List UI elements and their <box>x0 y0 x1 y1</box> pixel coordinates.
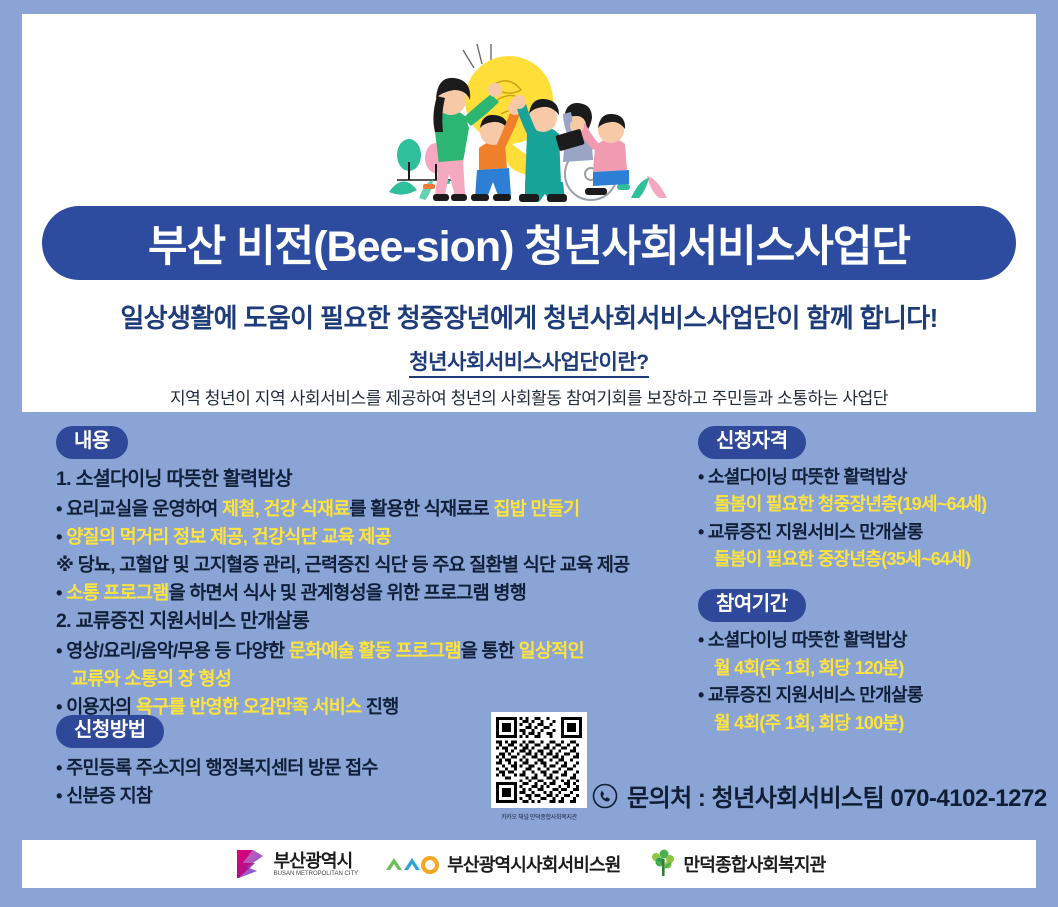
content-item1-title: 1. 소셜다이닝 따뜻한 활력밥상 <box>56 465 696 495</box>
content-area: 내용 1. 소셜다이닝 따뜻한 활력밥상 • 요리교실을 운영하여 제철, 건강… <box>22 412 1036 840</box>
period-badge: 참여기간 <box>698 589 806 622</box>
logo-busan-social-service-name: 부산광역시사회서비스원 <box>447 851 620 877</box>
plain-text: 진행 <box>361 696 398 717</box>
period-entry-title-0: • 소셜다이닝 따뜻한 활력밥상 <box>698 627 1028 654</box>
bullet-marker: • <box>56 640 66 661</box>
plain-text: 요리교실을 운영하여 <box>66 498 222 519</box>
content-left-column: 내용 1. 소셜다이닝 따뜻한 활력밥상 • 요리교실을 운영하여 제철, 건강… <box>56 426 696 721</box>
period-entry-detail-0: 월 4회(주 1회, 회당 120분) <box>698 655 1028 682</box>
eligibility-entry-title-0: • 소셜다이닝 따뜻한 활력밥상 <box>698 464 1028 491</box>
mandeok-welfare-center-logo <box>647 849 677 879</box>
eligibility-entry-detail-1: 돌봄이 필요한 중장년층(35세~64세) <box>698 546 1028 573</box>
content-item2-bullet-1: 교류와 소통의 장 형성 <box>56 665 696 693</box>
logo-busan-city: 부산광역시 BUSAN METROPOLITAN CITY <box>233 847 359 881</box>
content-item1-bullet-2: ※ 당뇨, 고혈압 및 고지혈증 관리, 근력증진 식단 등 주요 질환별 식단… <box>56 551 696 579</box>
period-entries: • 소셜다이닝 따뜻한 활력밥상월 4회(주 1회, 회당 120분)• 교류증… <box>698 627 1028 736</box>
highlighted-text: 제철, 건강 식재료 <box>222 498 350 519</box>
eligibility-entries: • 소셜다이닝 따뜻한 활력밥상돌봄이 필요한 청중장년층(19세~64세)• … <box>698 464 1028 573</box>
apply-method-block: 신청방법 • 주민등록 주소지의 행정복지센터 방문 접수• 신분증 지참 <box>56 715 476 810</box>
qr-code-icon[interactable] <box>491 712 587 808</box>
header-panel: 부산 비전(Bee-sion) 청년사회서비스사업단 일상생활에 도움이 필요한… <box>22 14 1036 412</box>
highlighted-text: 교류와 소통의 장 형성 <box>71 668 231 689</box>
poster-root: 부산 비전(Bee-sion) 청년사회서비스사업단 일상생활에 도움이 필요한… <box>0 0 1058 907</box>
period-entry-detail-1: 월 4회(주 1회, 회당 100분) <box>698 710 1028 737</box>
contact-text: 문의처 : 청년사회서비스팀 070-4102-1272 <box>627 778 1047 813</box>
bullet-marker: ※ <box>56 554 78 575</box>
plain-text: 을 통한 <box>461 640 519 661</box>
qr-caption: 카카오 채널 만덕종합사회복지관 <box>484 812 594 821</box>
contact-line: 문의처 : 청년사회서비스팀 070-4102-1272 <box>592 778 1047 813</box>
content-item1-bullet-1: • 양질의 먹거리 정보 제공, 건강식단 교육 제공 <box>56 523 696 551</box>
highlighted-text: 집밥 만들기 <box>493 498 579 519</box>
content-item2-bullet-0: • 영상/요리/음악/무용 등 다양한 문화예술 활동 프로그램을 통한 일상적… <box>56 637 696 665</box>
what-is-heading: 청년사회서비스사업단이란? <box>22 346 1036 376</box>
highlighted-text: 소통 프로그램 <box>66 582 168 603</box>
highlighted-text: 문화예술 활동 프로그램 <box>289 640 461 661</box>
eligibility-entry-detail-0: 돌봄이 필요한 청중장년층(19세~64세) <box>698 491 1028 518</box>
busan-social-service-agency-logo <box>384 853 440 875</box>
content-right-column: 신청자격 • 소셜다이닝 따뜻한 활력밥상돌봄이 필요한 청중장년층(19세~6… <box>698 426 1028 737</box>
eligibility-badge: 신청자격 <box>698 426 806 459</box>
subtitle-text: 일상생활에 도움이 필요한 청중장년에게 청년사회서비스사업단이 함께 합니다! <box>22 298 1036 335</box>
busan-city-logo <box>233 847 267 881</box>
plain-text: 이용자의 <box>66 696 136 717</box>
bullet-marker: • <box>56 696 66 717</box>
plain-text: 영상/요리/음악/무용 등 다양한 <box>66 640 288 661</box>
highlighted-text: 욕구를 반영한 오감만족 서비스 <box>136 696 361 717</box>
footer-logos: 부산광역시 BUSAN METROPOLITAN CITY 부산광역시사회서비스… <box>22 840 1036 888</box>
logo-busan-city-name: 부산광역시 <box>274 852 359 870</box>
program-description: 지역 청년이 지역 사회서비스를 제공하여 청년의 사회활동 참여기회를 보장하… <box>22 384 1036 409</box>
plain-text: 당뇨, 고혈압 및 고지혈증 관리, 근력증진 식단 등 주요 질환별 식단 교… <box>78 554 630 575</box>
content-item2-title: 2. 교류증진 지원서비스 만개살롱 <box>56 607 696 637</box>
main-title-text: 부산 비전(Bee-sion) 청년사회서비스사업단 <box>148 212 910 274</box>
apply-method-bullet-0: • 주민등록 주소지의 행정복지센터 방문 접수 <box>56 754 476 782</box>
content-item2-bullets: • 영상/요리/음악/무용 등 다양한 문화예술 활동 프로그램을 통한 일상적… <box>56 637 696 721</box>
phone-circle-icon <box>592 783 618 809</box>
bullet-marker: • <box>56 498 66 519</box>
highlighted-text: 양질의 먹거리 정보 제공, 건강식단 교육 제공 <box>66 526 391 547</box>
logo-busan-city-subtitle: BUSAN METROPOLITAN CITY <box>274 871 359 877</box>
period-entry-title-1: • 교류증진 지원서비스 만개살롱 <box>698 682 1028 709</box>
bullet-marker: • <box>56 526 66 547</box>
what-is-heading-text: 청년사회서비스사업단이란? <box>409 351 648 378</box>
logo-mandeok-welfare: 만덕종합사회복지관 <box>647 849 826 879</box>
apply-method-badge: 신청방법 <box>56 715 164 748</box>
content-badge: 내용 <box>56 426 128 459</box>
plain-text: 를 활용한 식재료로 <box>350 498 494 519</box>
content-item1-bullets: • 요리교실을 운영하여 제철, 건강 식재료를 활용한 식재료로 집밥 만들기… <box>56 495 696 607</box>
eligibility-entry-title-1: • 교류증진 지원서비스 만개살롱 <box>698 519 1028 546</box>
plain-text: 을 하면서 식사 및 관계형성을 위한 프로그램 병행 <box>169 582 526 603</box>
main-title-banner: 부산 비전(Bee-sion) 청년사회서비스사업단 <box>42 206 1016 280</box>
logo-mandeok-welfare-name: 만덕종합사회복지관 <box>684 851 826 877</box>
apply-method-bullets: • 주민등록 주소지의 행정복지센터 방문 접수• 신분증 지참 <box>56 754 476 810</box>
logo-busan-social-service: 부산광역시사회서비스원 <box>384 851 620 877</box>
people-holding-lightbulb-illustration <box>379 22 679 207</box>
content-item1-bullet-3: • 소통 프로그램을 하면서 식사 및 관계형성을 위한 프로그램 병행 <box>56 579 696 607</box>
highlighted-text: 일상적인 <box>519 640 584 661</box>
content-item1-bullet-0: • 요리교실을 운영하여 제철, 건강 식재료를 활용한 식재료로 집밥 만들기 <box>56 495 696 523</box>
apply-method-bullet-1: • 신분증 지참 <box>56 782 476 810</box>
qr-code-block[interactable]: 카카오 채널 만덕종합사회복지관 <box>484 712 594 821</box>
bullet-marker: • <box>56 582 66 603</box>
